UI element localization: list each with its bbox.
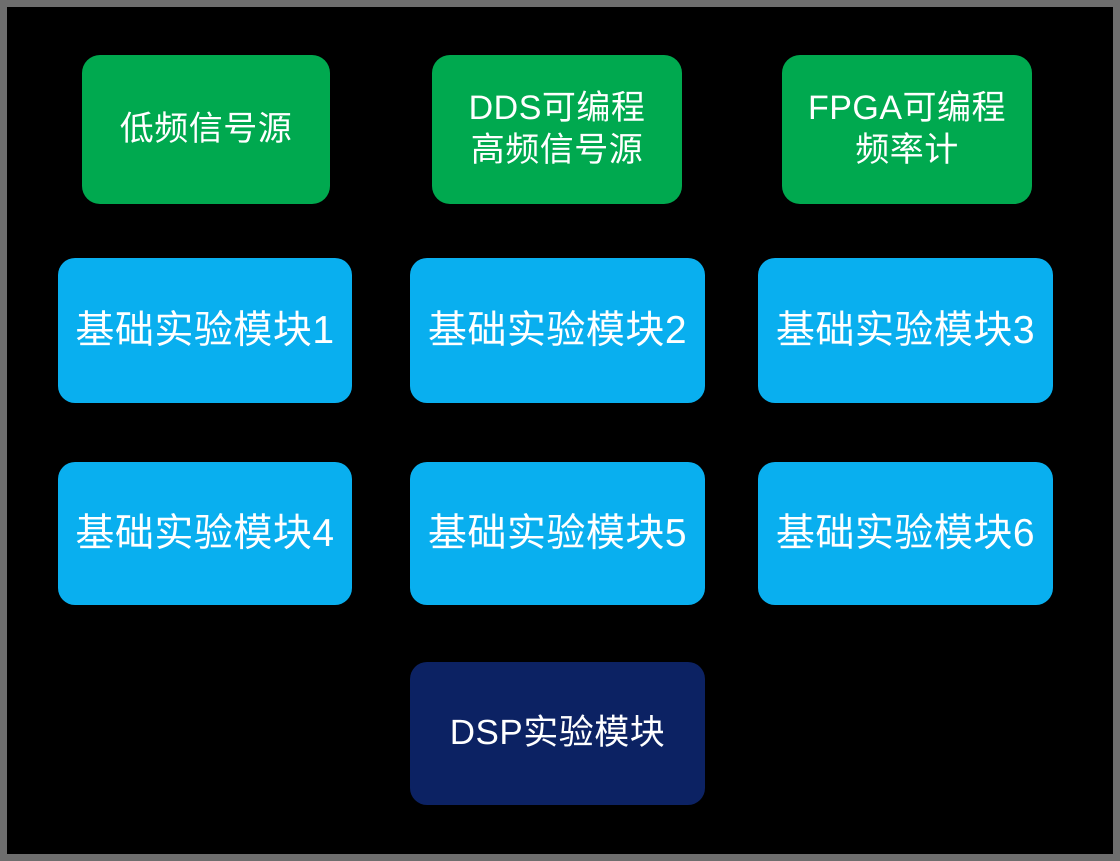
node-basic-experiment-module-3[interactable]: 基础实验模块3 [758, 258, 1053, 403]
node-fpga-frequency-counter[interactable]: FPGA可编程 频率计 [782, 55, 1032, 204]
diagram-canvas: 低频信号源 DDS可编程 高频信号源 FPGA可编程 频率计 基础实验模块1 基… [0, 0, 1120, 861]
node-dsp-experiment-module[interactable]: DSP实验模块 [410, 662, 705, 805]
node-basic-experiment-module-2[interactable]: 基础实验模块2 [410, 258, 705, 403]
node-dds-high-freq-signal-source[interactable]: DDS可编程 高频信号源 [432, 55, 682, 204]
node-basic-experiment-module-1[interactable]: 基础实验模块1 [58, 258, 352, 403]
node-basic-experiment-module-6[interactable]: 基础实验模块6 [758, 462, 1053, 605]
node-basic-experiment-module-5[interactable]: 基础实验模块5 [410, 462, 705, 605]
node-basic-experiment-module-4[interactable]: 基础实验模块4 [58, 462, 352, 605]
node-low-freq-signal-source[interactable]: 低频信号源 [82, 55, 330, 204]
